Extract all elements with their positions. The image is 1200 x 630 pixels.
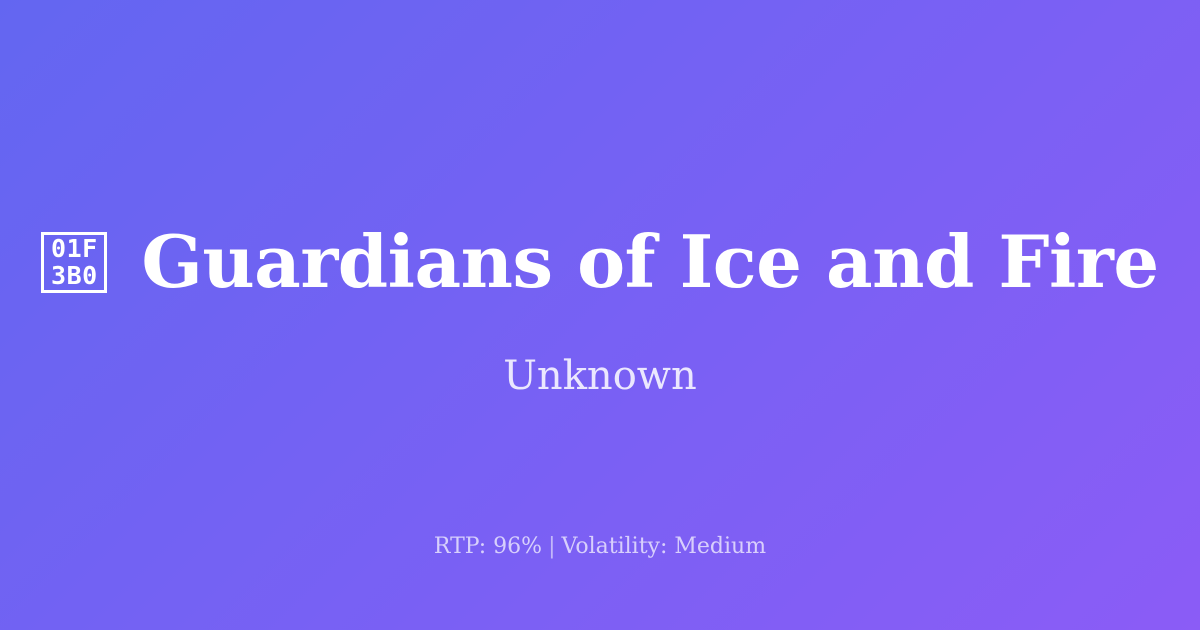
game-meta-footer: RTP: 96%|Volatility: Medium — [0, 533, 1200, 562]
page-subtitle: Unknown — [503, 352, 697, 400]
page-title: Guardians of Ice and Fire — [141, 222, 1158, 301]
slot-machine-emoji-icon: 01F 3B0 — [41, 232, 107, 293]
tofu-codepoint-top: 01F — [51, 236, 98, 261]
meta-separator: | — [542, 534, 561, 559]
rtp-value: RTP: 96% — [434, 534, 542, 559]
volatility-value: Volatility: Medium — [562, 534, 767, 559]
title-row: 01F 3B0 Guardians of Ice and Fire — [40, 222, 1160, 301]
og-card: 01F 3B0 Guardians of Ice and Fire Unknow… — [0, 0, 1200, 630]
tofu-codepoint-bottom: 3B0 — [51, 263, 98, 288]
